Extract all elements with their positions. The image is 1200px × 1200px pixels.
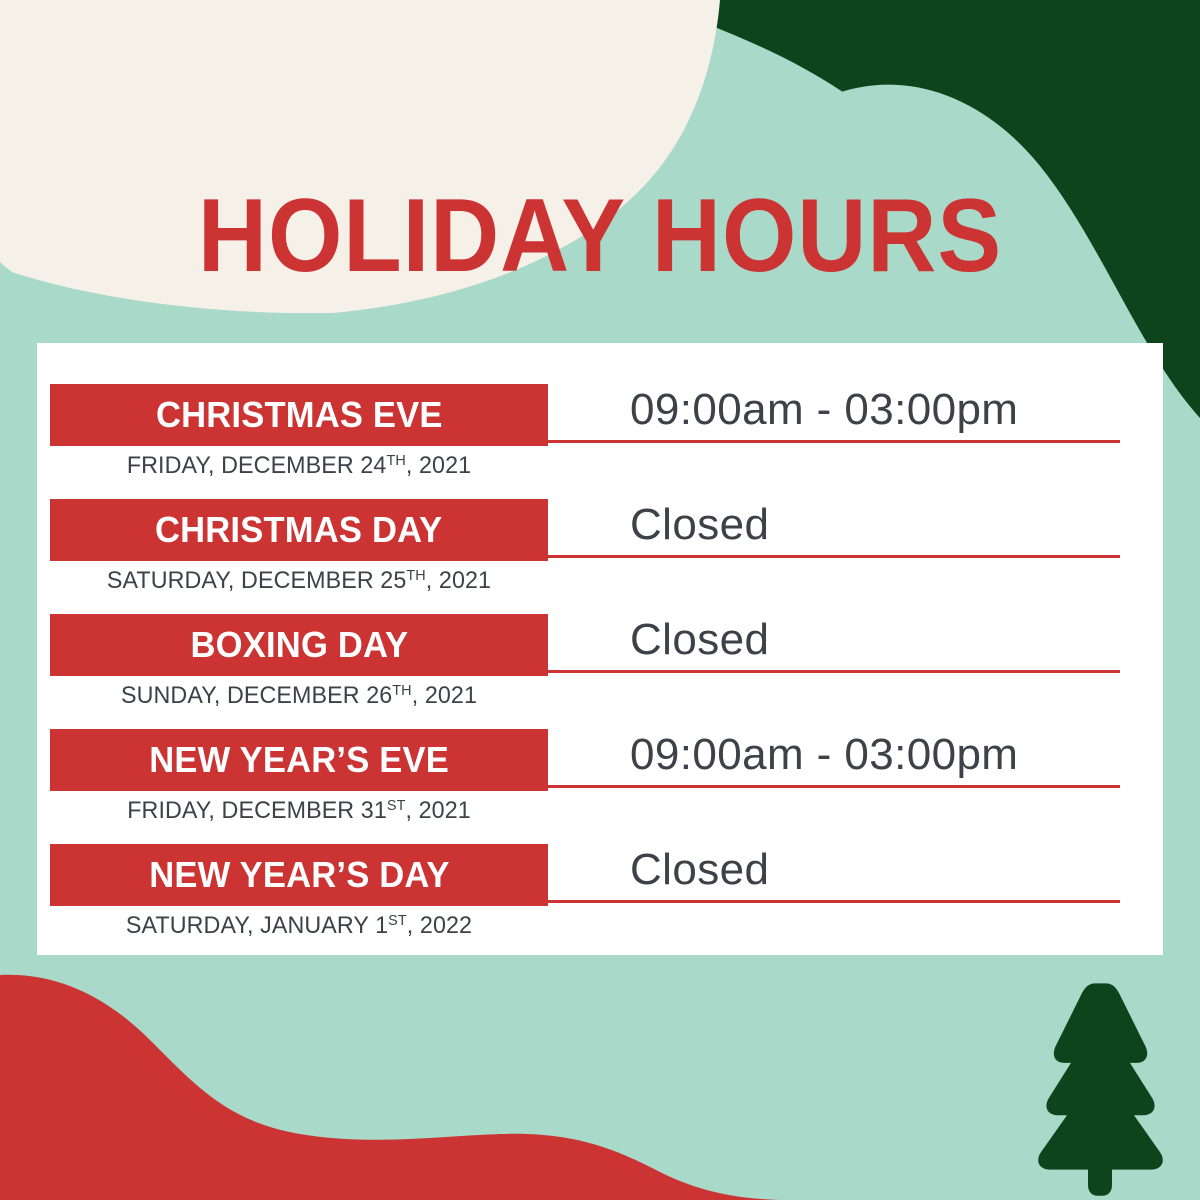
holiday-date-suffix: , 2021 [405, 797, 470, 824]
holiday-date: FRIDAY, DECEMBER 31ST, 2021 [62, 794, 535, 828]
holiday-date-ordinal: ST [388, 912, 407, 929]
holiday-name: NEW YEAR’S DAY [149, 856, 449, 894]
holiday-name: NEW YEAR’S EVE [149, 741, 449, 779]
holiday-date-ordinal: TH [392, 682, 411, 699]
schedule-panel: CHRISTMAS EVE FRIDAY, DECEMBER 24TH, 202… [37, 343, 1163, 955]
hours-cell: Closed [548, 607, 1120, 677]
hours-value: Closed [630, 494, 769, 556]
schedule-row: CHRISTMAS DAY SATURDAY, DECEMBER 25TH, 2… [37, 492, 1163, 607]
holiday-name: CHRISTMAS EVE [156, 396, 443, 434]
holiday-date-prefix: FRIDAY, DECEMBER 31 [127, 797, 387, 824]
holiday-date: SATURDAY, DECEMBER 25TH, 2021 [62, 564, 535, 598]
hours-value: Closed [630, 609, 769, 671]
holiday-date-suffix: , 2021 [412, 682, 477, 709]
hours-value: 09:00am - 03:00pm [630, 379, 1018, 441]
hours-cell: Closed [548, 492, 1120, 562]
holiday-hours-poster: HOLIDAY HOURS CHRISTMAS EVE FRIDAY, DECE… [0, 0, 1200, 1200]
hours-value: 09:00am - 03:00pm [630, 724, 1018, 786]
holiday-date-prefix: SATURDAY, DECEMBER 25 [107, 567, 406, 594]
holiday-name: BOXING DAY [190, 626, 408, 664]
holiday-date-ordinal: TH [386, 452, 405, 469]
holiday-date: SUNDAY, DECEMBER 26TH, 2021 [62, 679, 535, 713]
holiday-date-ordinal: TH [406, 567, 425, 584]
hours-underline [548, 555, 1120, 558]
holiday-label-bar: CHRISTMAS EVE [50, 384, 548, 446]
hours-cell: Closed [548, 837, 1120, 907]
holiday-date-suffix: , 2021 [406, 452, 471, 479]
schedule-row: NEW YEAR’S DAY SATURDAY, JANUARY 1ST, 20… [37, 837, 1163, 952]
holiday-label-bar: BOXING DAY [50, 614, 548, 676]
hours-value: Closed [630, 839, 769, 901]
holiday-date-prefix: SATURDAY, JANUARY 1 [126, 912, 388, 939]
hours-underline [548, 785, 1120, 788]
holiday-date-prefix: FRIDAY, DECEMBER 24 [127, 452, 387, 479]
holiday-name: CHRISTMAS DAY [155, 511, 442, 549]
page-title: HOLIDAY HOURS [48, 182, 1152, 290]
holiday-date: FRIDAY, DECEMBER 24TH, 2021 [62, 449, 535, 483]
schedule-row: CHRISTMAS EVE FRIDAY, DECEMBER 24TH, 202… [37, 377, 1163, 492]
schedule-rows: CHRISTMAS EVE FRIDAY, DECEMBER 24TH, 202… [37, 343, 1163, 955]
hours-underline [548, 900, 1120, 903]
holiday-label-bar: CHRISTMAS DAY [50, 499, 548, 561]
holiday-label-bar: NEW YEAR’S DAY [50, 844, 548, 906]
holiday-date-prefix: SUNDAY, DECEMBER 26 [121, 682, 392, 709]
hours-cell: 09:00am - 03:00pm [548, 377, 1120, 447]
holiday-label-bar: NEW YEAR’S EVE [50, 729, 548, 791]
holiday-date-suffix: , 2021 [426, 567, 491, 594]
hours-cell: 09:00am - 03:00pm [548, 722, 1120, 792]
holiday-date-ordinal: ST [387, 797, 406, 814]
hours-underline [548, 440, 1120, 443]
hours-underline [548, 670, 1120, 673]
holiday-date: SATURDAY, JANUARY 1ST, 2022 [62, 909, 535, 943]
schedule-row: BOXING DAY SUNDAY, DECEMBER 26TH, 2021 C… [37, 607, 1163, 722]
schedule-row: NEW YEAR’S EVE FRIDAY, DECEMBER 31ST, 20… [37, 722, 1163, 837]
holiday-date-suffix: , 2022 [407, 912, 472, 939]
